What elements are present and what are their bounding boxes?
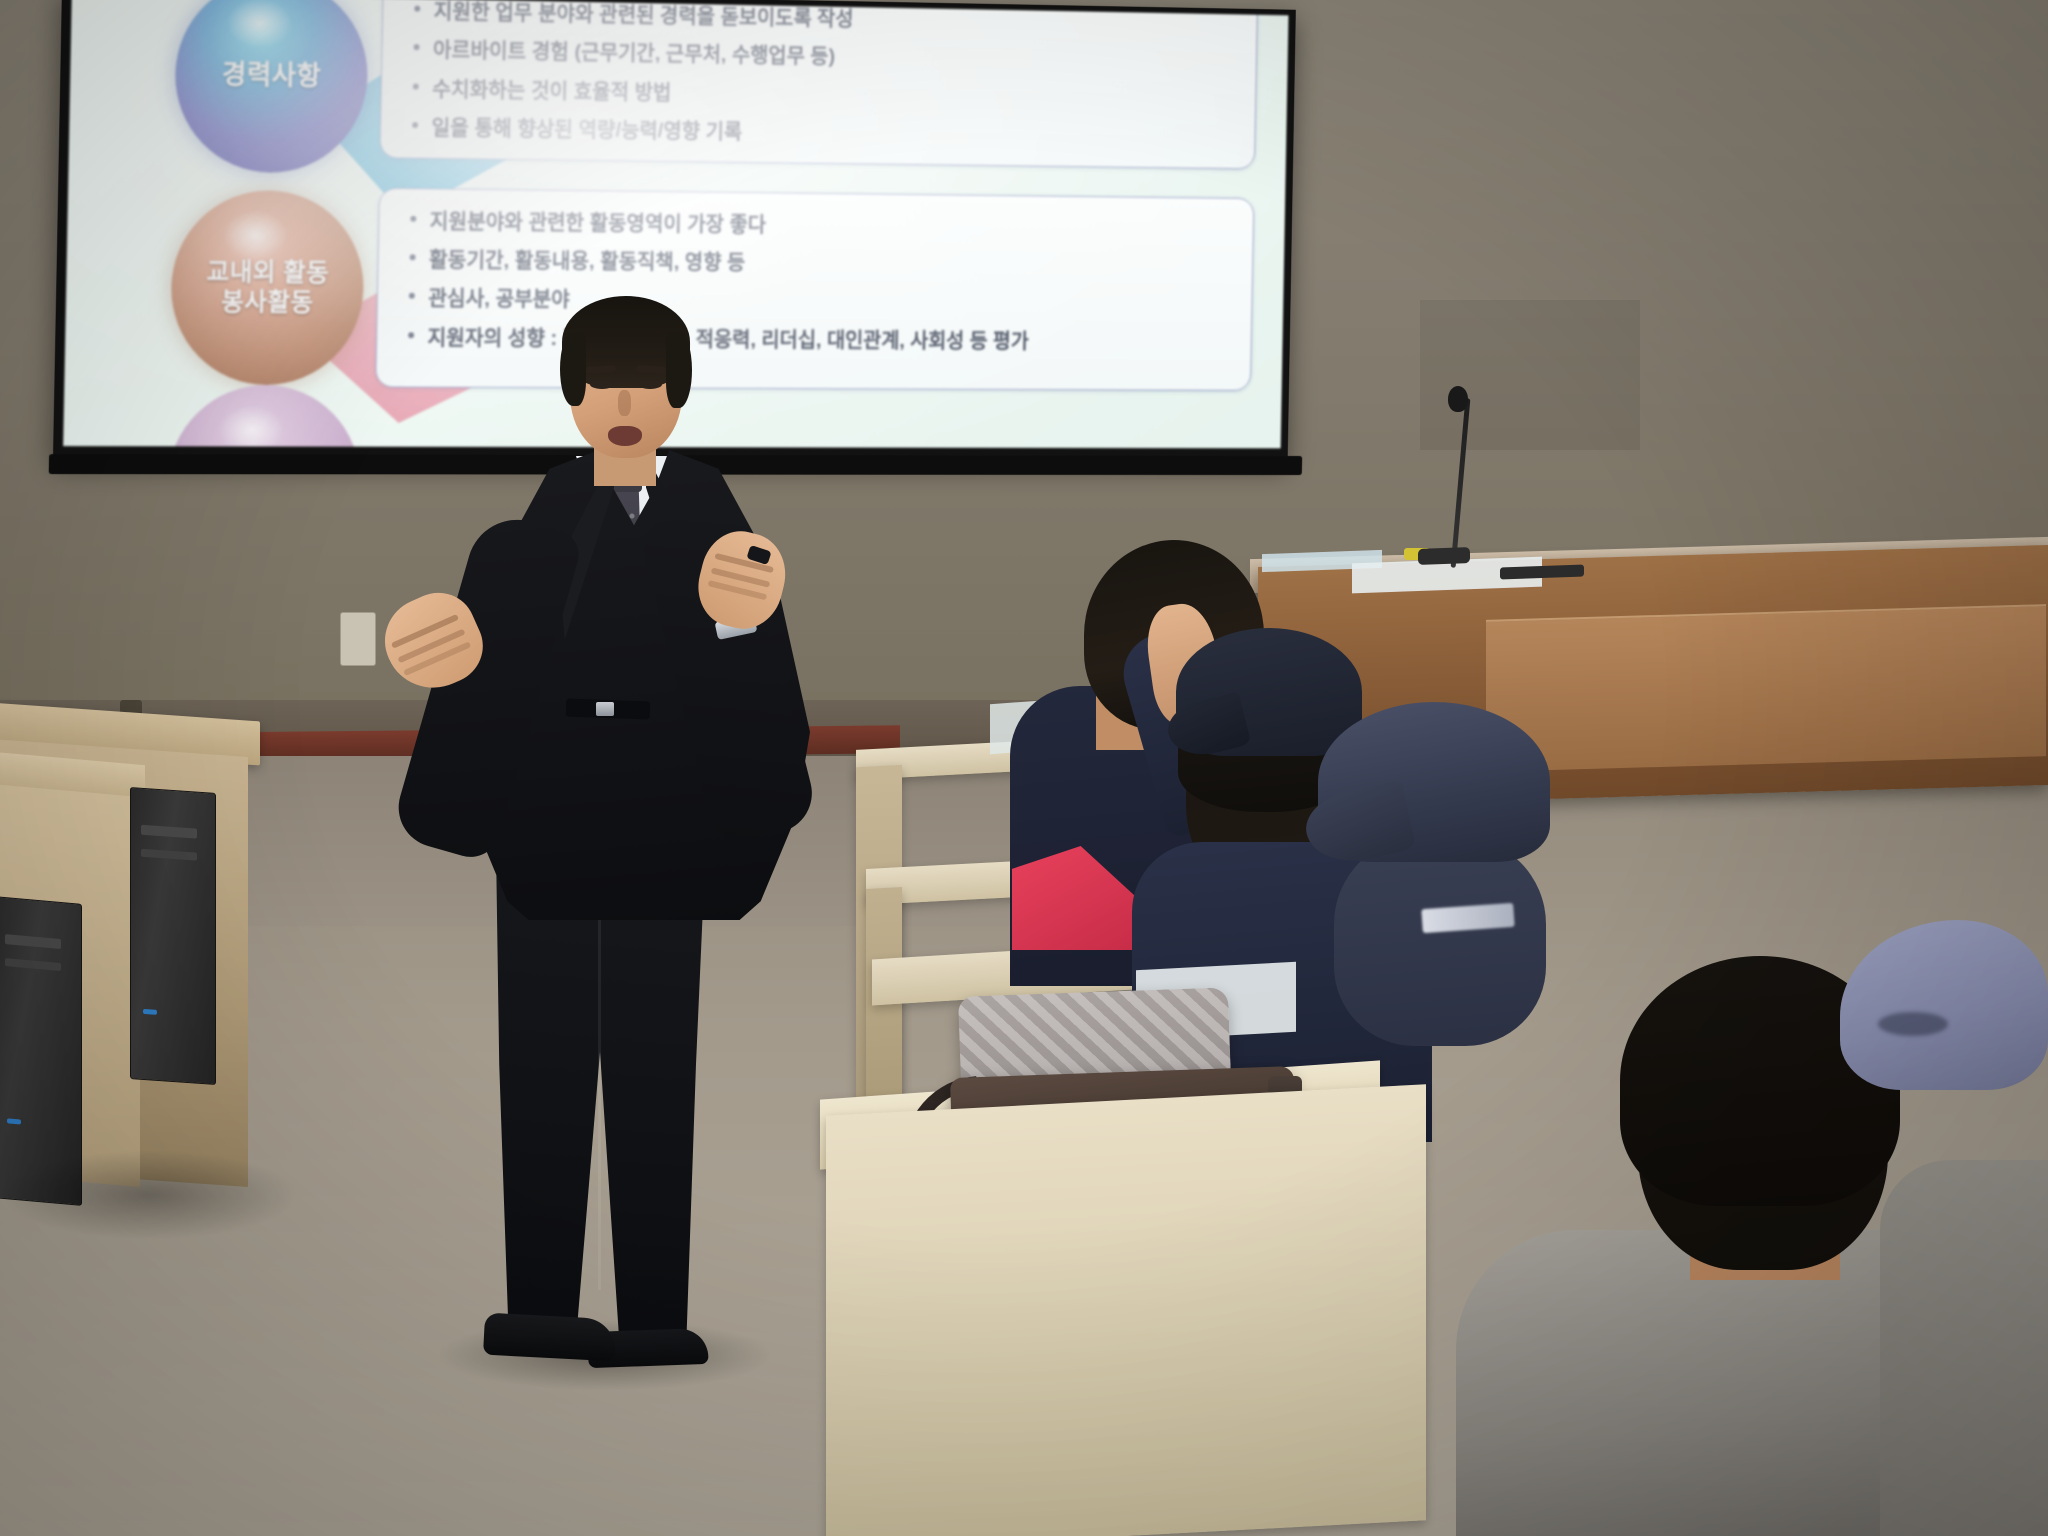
student-desk-foreground xyxy=(826,1084,1426,1536)
bullet-item: 아르바이트 경험 (근무기간, 근무처, 수행업무 등) xyxy=(407,33,1239,79)
drive-bay-slot xyxy=(5,958,61,971)
drive-bay-slot xyxy=(141,849,197,861)
presenter-eye xyxy=(590,380,614,389)
presenter-hair-side xyxy=(560,332,586,406)
desk-shadow xyxy=(0,1150,300,1240)
computer-tower xyxy=(130,787,216,1085)
presenter-hair-side xyxy=(666,332,692,408)
student-shoulder xyxy=(1880,1160,2048,1536)
optical-drive-slot xyxy=(5,934,61,949)
presenter xyxy=(380,270,800,1536)
power-led-icon xyxy=(143,1009,157,1015)
wall-outlet-icon xyxy=(340,612,376,666)
bubble-label-activities-2: 봉사활동 xyxy=(221,287,314,318)
optical-drive-slot xyxy=(141,825,197,839)
cap-shadow xyxy=(1878,1012,1948,1036)
bubble-label-activities-1: 교내외 활동 xyxy=(206,257,329,288)
wall-panel xyxy=(1420,300,1640,450)
slide-panel-career: 자신이 경험한 경력 사항, 소속부서, 담당업무 기재 지원한 업무 분야와 … xyxy=(380,0,1259,169)
lectern-front-panel xyxy=(1486,604,2046,772)
slide-bubble-third xyxy=(166,385,362,449)
microphone-base xyxy=(1418,547,1470,565)
belt-buckle xyxy=(596,702,614,716)
bullet-item: 지원분야와 관련한 활동영역이 가장 좋다 xyxy=(404,205,1237,246)
student-head xyxy=(1334,836,1546,1046)
classroom-photo: 경력사항 교내외 활동 봉사활동 자신이 경험한 경력 사항, 소속부서, 담당… xyxy=(0,0,2048,1536)
presenter-mouth xyxy=(608,426,642,446)
presenter-nose xyxy=(618,390,631,416)
bullet-list-career: 자신이 경험한 경력 사항, 소속부서, 담당업무 기재 지원한 업무 분야와 … xyxy=(406,0,1241,160)
power-led-icon xyxy=(7,1118,21,1124)
microphone-icon xyxy=(1448,386,1468,412)
bubble-label-career: 경력사항 xyxy=(222,58,322,92)
bullet-item: 일을 통해 향상된 역량/능력/영향 기록 xyxy=(406,111,1238,155)
bullet-item: 수치화하는 것이 효율적 방법 xyxy=(407,72,1239,117)
slide-bubble-career: 경력사항 xyxy=(174,0,370,174)
presenter-eye xyxy=(638,380,662,389)
